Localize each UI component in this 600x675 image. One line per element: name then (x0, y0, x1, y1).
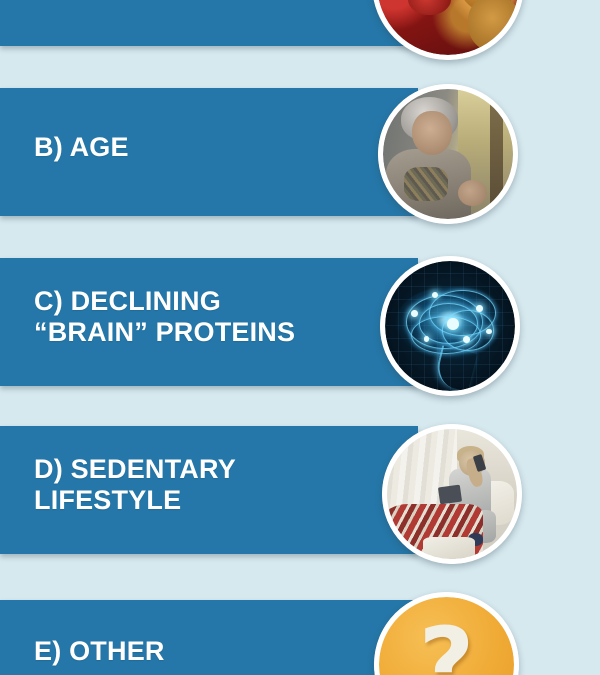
answer-image-a[interactable] (372, 0, 524, 60)
answer-label-d: D) SEDENTARY LIFESTYLE (34, 454, 384, 515)
person-in-bed-photo (387, 429, 517, 559)
answer-label-c: C) DECLINING “BRAIN” PROTEINS (34, 286, 384, 347)
answer-image-b[interactable] (378, 84, 518, 224)
infographic-canvas: B) AGE C) DECLINING “BRAIN” PROTEINS (0, 0, 600, 675)
digital-brain-photo (385, 261, 515, 391)
answer-image-c[interactable] (380, 256, 520, 396)
blood-cells-plaque-photo (377, 0, 519, 55)
answer-label-e: E) OTHER (34, 636, 364, 667)
answer-label-b: B) AGE (34, 132, 364, 163)
answer-image-d[interactable] (382, 424, 522, 564)
elderly-woman-photo (383, 89, 513, 219)
answer-bar-a[interactable] (0, 0, 418, 46)
question-mark-badge: ? (379, 597, 514, 675)
question-mark-glyph: ? (419, 615, 475, 675)
